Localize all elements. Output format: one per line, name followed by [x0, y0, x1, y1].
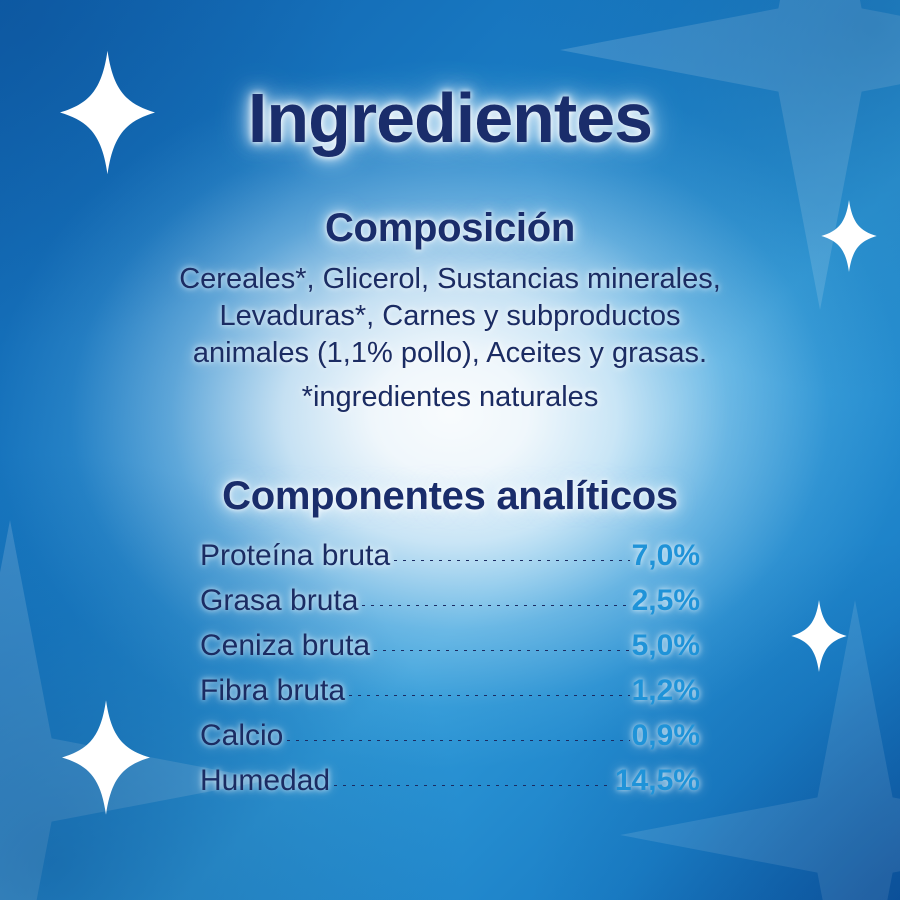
composicion-line-2: Levaduras*, Carnes y subproductos [179, 298, 721, 335]
analytical-value: 2,5% [632, 584, 700, 618]
composicion-line-1: Cereales*, Glicerol, Sustancias minerale… [179, 261, 721, 298]
dot-leader [284, 740, 629, 741]
composicion-footnote: *ingredientes naturales [179, 379, 721, 416]
analytical-row: Grasa bruta 2,5% [200, 584, 700, 629]
analytical-label: Fibra bruta [200, 674, 345, 708]
analytical-label: Proteína bruta [200, 539, 390, 573]
analytical-row: Fibra bruta 1,2% [200, 674, 700, 719]
componentes-analiticos-heading: Componentes analíticos [222, 474, 678, 519]
page-title: Ingredientes [248, 78, 652, 158]
analytical-row: Calcio 0,9% [200, 719, 700, 764]
analytical-value: 7,0% [632, 539, 700, 573]
composicion-body: Cereales*, Glicerol, Sustancias minerale… [179, 261, 721, 416]
analytical-label: Ceniza bruta [200, 629, 370, 663]
dot-leader [331, 785, 613, 786]
analytical-row: Humedad 14,5% [200, 764, 700, 809]
dot-leader [391, 560, 629, 561]
analytical-row: Proteína bruta 7,0% [200, 539, 700, 584]
analytical-value: 14,5% [615, 764, 700, 798]
dot-leader [346, 695, 630, 696]
analytical-label: Calcio [200, 719, 283, 753]
analytical-components-list: Proteína bruta 7,0% Grasa bruta 2,5% Cen… [200, 539, 700, 809]
dot-leader [359, 605, 629, 606]
analytical-value: 0,9% [632, 719, 700, 753]
ingredients-panel: Ingredientes Composición Cereales*, Glic… [0, 0, 900, 900]
analytical-value: 5,0% [632, 629, 700, 663]
analytical-label: Grasa bruta [200, 584, 358, 618]
analytical-label: Humedad [200, 764, 330, 798]
analytical-value: 1,2% [632, 674, 700, 708]
analytical-row: Ceniza bruta 5,0% [200, 629, 700, 674]
composicion-heading: Composición [325, 206, 575, 251]
dot-leader [371, 650, 630, 651]
composicion-line-3: animales (1,1% pollo), Aceites y grasas. [179, 335, 721, 372]
